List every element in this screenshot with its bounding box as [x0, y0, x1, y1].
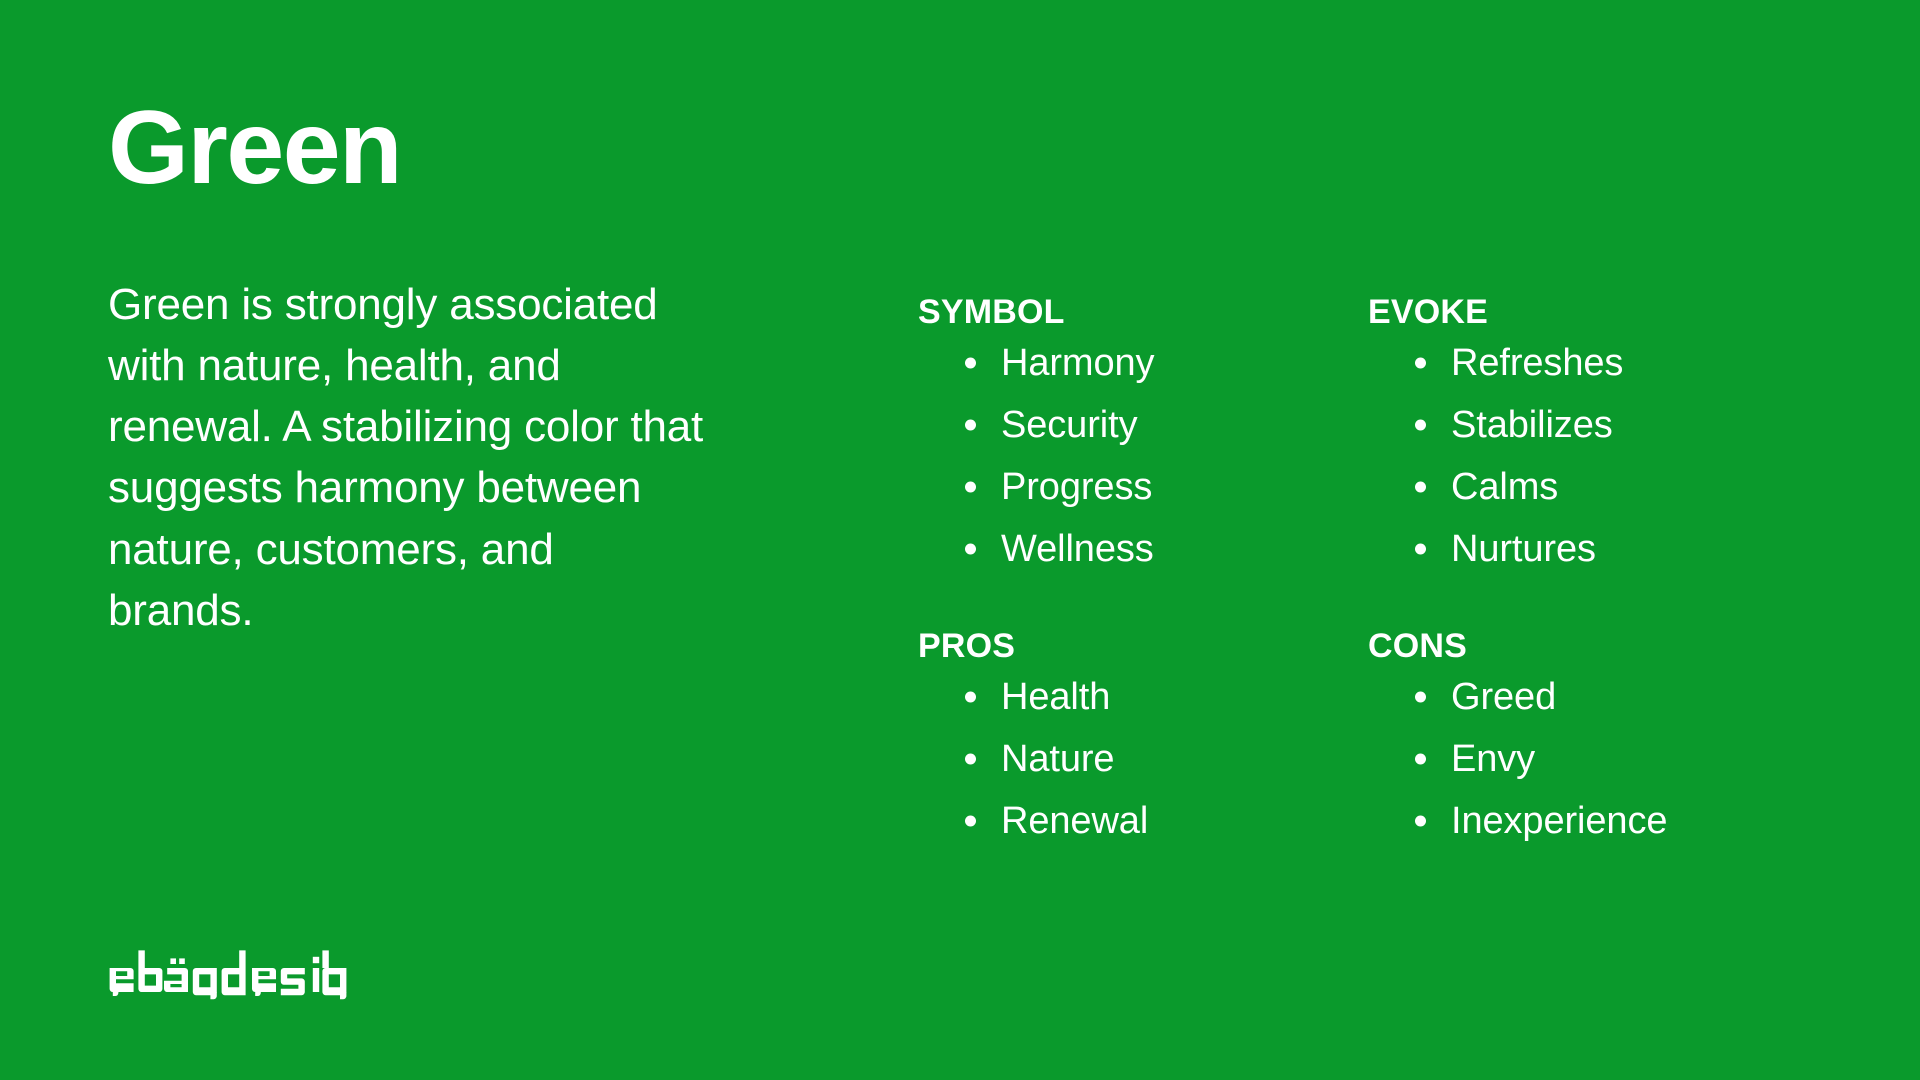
list-item-label: Health — [1001, 676, 1110, 718]
attribute-block: PROSHealthNatureRenewal — [918, 626, 1368, 840]
list-item-label: Renewal — [1001, 800, 1148, 842]
bullet-icon — [965, 420, 976, 431]
attribute-list: GreedEnvyInexperience — [1368, 678, 1818, 840]
list-item-label: Inexperience — [1451, 800, 1667, 842]
bullet-icon — [965, 358, 976, 369]
list-item: Renewal — [918, 802, 1368, 840]
bullet-icon — [1415, 482, 1426, 493]
list-item-label: Security — [1001, 404, 1137, 446]
list-item-label: Calms — [1451, 466, 1558, 508]
bullet-icon — [965, 482, 976, 493]
brand-logo — [108, 944, 348, 1000]
list-item-label: Greed — [1451, 676, 1556, 718]
bullet-icon — [1415, 420, 1426, 431]
bullet-icon — [965, 816, 976, 827]
attribute-list: HealthNatureRenewal — [918, 678, 1368, 840]
list-item: Security — [918, 406, 1368, 444]
bullet-icon — [1415, 692, 1426, 703]
list-item-label: Stabilizes — [1451, 404, 1613, 446]
left-content-column: Green Green is strongly associated with … — [108, 96, 748, 641]
list-item-label: Harmony — [1001, 342, 1154, 384]
bullet-icon — [1415, 754, 1426, 765]
list-item-label: Wellness — [1001, 528, 1154, 570]
list-item: Wellness — [918, 530, 1368, 568]
attribute-list: HarmonySecurityProgressWellness — [918, 344, 1368, 568]
list-item: Inexperience — [1368, 802, 1818, 840]
attribute-list: RefreshesStabilizesCalmsNurtures — [1368, 344, 1818, 568]
list-item-label: Nature — [1001, 738, 1114, 780]
list-item: Calms — [1368, 468, 1818, 506]
ebaqdesign-wordmark-icon — [108, 944, 348, 1000]
attribute-heading: EVOKE — [1368, 292, 1818, 332]
list-item: Envy — [1368, 740, 1818, 778]
attribute-heading: CONS — [1368, 626, 1818, 666]
page-title: Green — [108, 96, 748, 200]
attribute-block: EVOKERefreshesStabilizesCalmsNurtures — [1368, 292, 1818, 568]
list-item-label: Envy — [1451, 738, 1535, 780]
color-profile-slide: Green Green is strongly associated with … — [0, 0, 1920, 1080]
attribute-block: SYMBOLHarmonySecurityProgressWellness — [918, 292, 1368, 568]
bullet-icon — [1415, 544, 1426, 555]
attribute-heading: PROS — [918, 626, 1368, 666]
list-item: Refreshes — [1368, 344, 1818, 382]
list-item: Nurtures — [1368, 530, 1818, 568]
intro-paragraph: Green is strongly associated with nature… — [108, 274, 708, 641]
list-item: Greed — [1368, 678, 1818, 716]
bullet-icon — [1415, 816, 1426, 827]
list-item: Progress — [918, 468, 1368, 506]
list-item: Stabilizes — [1368, 406, 1818, 444]
list-item-label: Nurtures — [1451, 528, 1596, 570]
bullet-icon — [1415, 358, 1426, 369]
bullet-icon — [965, 544, 976, 555]
attribute-grid: SYMBOLHarmonySecurityProgressWellnessEVO… — [918, 292, 1818, 840]
list-item-label: Refreshes — [1451, 342, 1623, 384]
list-item: Nature — [918, 740, 1368, 778]
bullet-icon — [965, 754, 976, 765]
list-item-label: Progress — [1001, 466, 1152, 508]
attribute-block: CONSGreedEnvyInexperience — [1368, 626, 1818, 840]
list-item: Health — [918, 678, 1368, 716]
bullet-icon — [965, 692, 976, 703]
attribute-heading: SYMBOL — [918, 292, 1368, 332]
list-item: Harmony — [918, 344, 1368, 382]
